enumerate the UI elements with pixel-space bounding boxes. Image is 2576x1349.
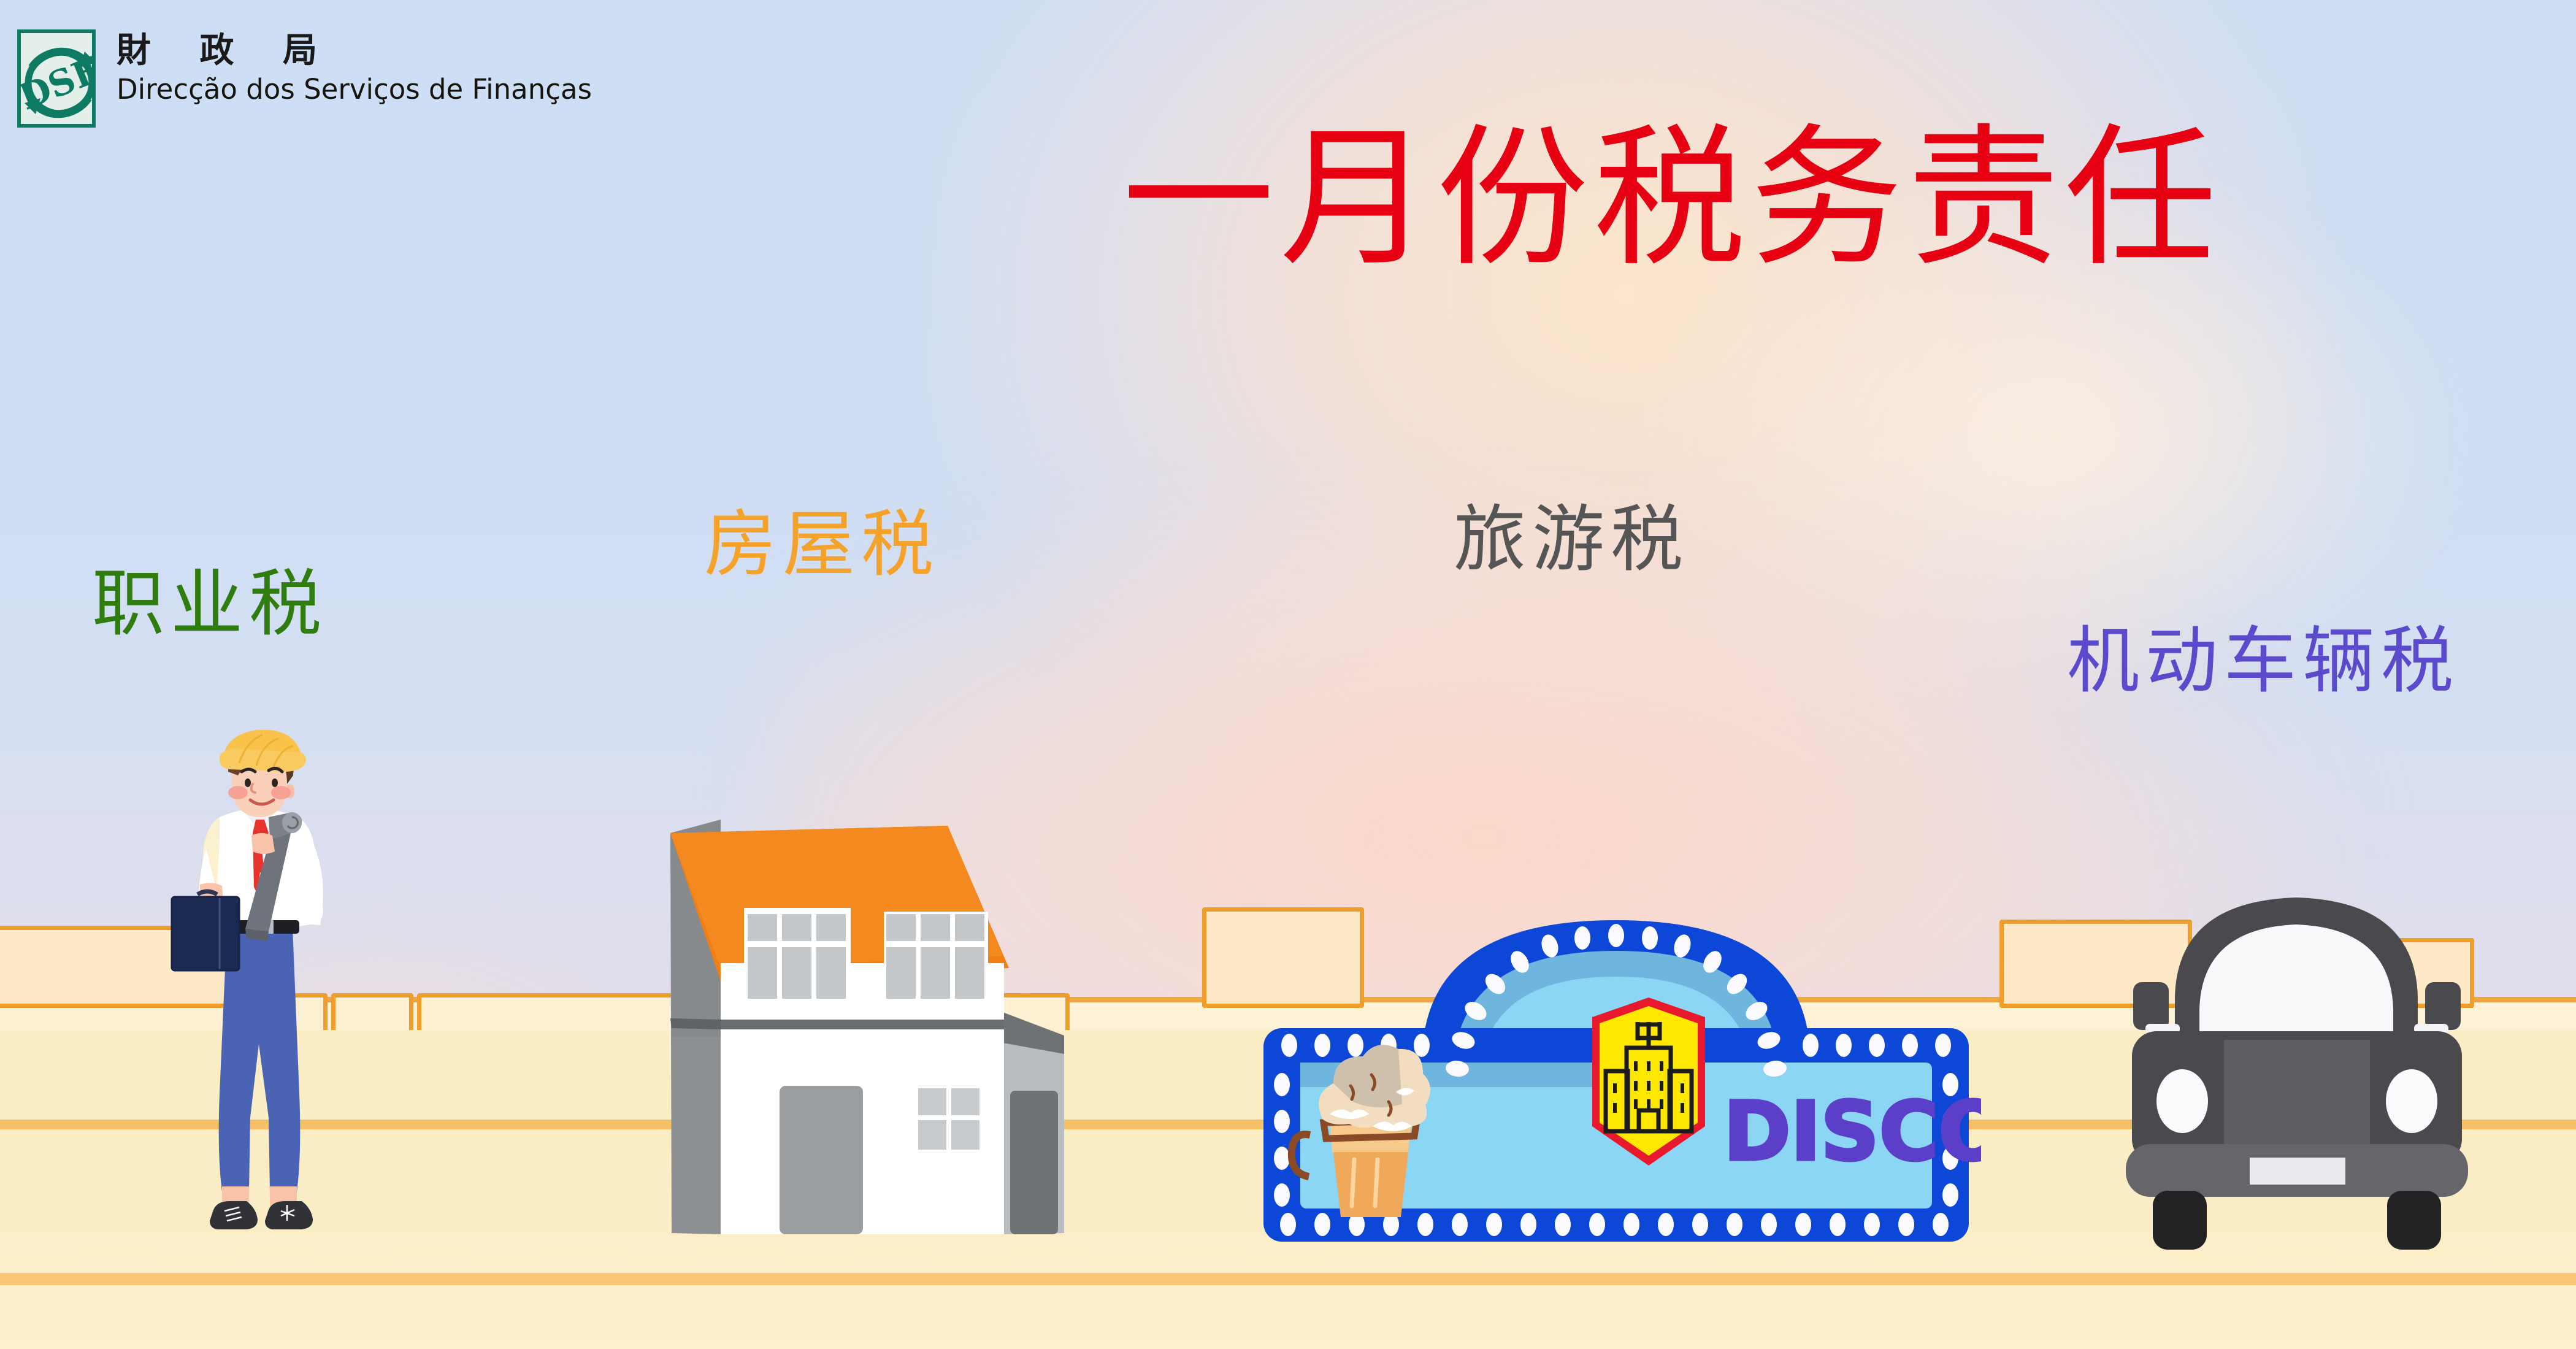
house-svg: [659, 779, 1107, 1251]
tax-label-tourism: 旅游税: [1454, 503, 1689, 575]
tax-label-vehicle: 机动车辆税: [2067, 625, 2459, 697]
car-svg: [2085, 862, 2509, 1255]
organization-header: DSF 財 政 局 Direcção dos Serviços de Finan…: [17, 29, 592, 128]
car-illustration: [2085, 862, 2509, 1255]
dsf-logo-icon: DSF: [17, 29, 96, 128]
tax-label-occupation: 职业税: [92, 567, 328, 640]
house-illustration: [659, 779, 1107, 1251]
worker-illustration: [161, 725, 360, 1251]
dsf-emblem-svg: DSF: [18, 32, 102, 134]
tax-label-property: 房屋税: [704, 508, 940, 580]
disco-sign-illustration: DISCO: [1251, 908, 1981, 1251]
worker-svg: [161, 725, 360, 1251]
disco-sign-text: DISCO: [1723, 1085, 1981, 1179]
organization-name-block: 財 政 局 Direcção dos Serviços de Finanças: [117, 29, 592, 106]
page-title: 一月份税务责任: [1122, 123, 2221, 275]
svg-text:DSF: DSF: [18, 49, 102, 118]
poster-canvas: DSF 財 政 局 Direcção dos Serviços de Finan…: [0, 0, 2576, 1349]
ground-stripe-lower: [0, 1273, 2576, 1285]
disco-sign-svg: DISCO: [1251, 908, 1981, 1251]
org-name-portuguese: Direcção dos Serviços de Finanças: [117, 73, 592, 106]
org-name-chinese: 財 政 局: [117, 33, 592, 69]
